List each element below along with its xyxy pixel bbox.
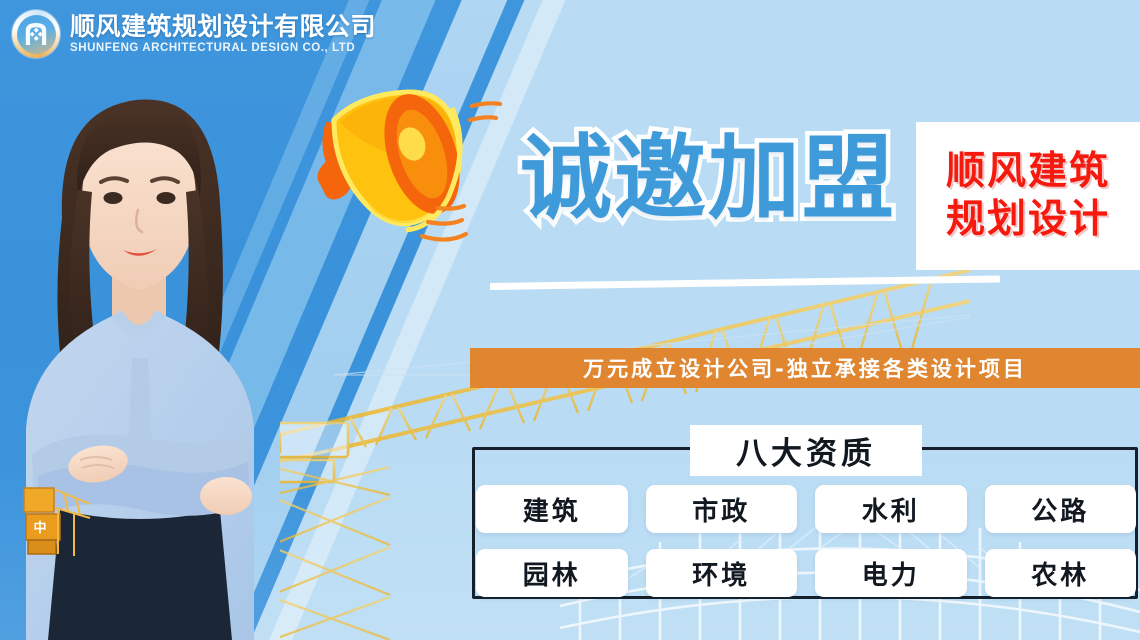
qualification-label: 环境: [692, 555, 750, 592]
brand-line-2: 规划设计: [946, 199, 1110, 241]
qualification-label: 水利: [862, 491, 920, 528]
qualification-label: 公路: [1031, 491, 1089, 528]
qualifications-grid: 建筑 市政 水利 公路 园林 环境 电力 农林: [472, 485, 1140, 597]
qualification-item-gonglu[interactable]: 公路: [985, 485, 1137, 533]
qualifications-section: 八大资质 建筑 市政 水利 公路 园林 环境 电力: [472, 425, 1140, 617]
qualification-item-huanjing[interactable]: 环境: [646, 549, 798, 597]
brand-line-1: 顺风建筑: [946, 151, 1110, 193]
qualification-item-shuili[interactable]: 水利: [815, 485, 967, 533]
company-logo[interactable]: 顺风建筑规划设计有限公司 SHUNFENG ARCHITECTURAL DESI…: [12, 10, 376, 58]
qualification-label: 园林: [523, 555, 581, 592]
qualification-item-nonglin[interactable]: 农林: [985, 549, 1137, 597]
qualification-item-jianzhu[interactable]: 建筑: [476, 485, 628, 533]
qualifications-title: 八大资质: [690, 425, 922, 476]
brand-name-box: 顺风建筑 规划设计: [916, 122, 1140, 270]
qualification-label: 建筑: [523, 491, 581, 528]
qualification-label: 农林: [1031, 555, 1089, 592]
company-name-cn: 顺风建筑规划设计有限公司: [70, 14, 376, 39]
company-name-en: SHUNFENG ARCHITECTURAL DESIGN CO., LTD: [70, 43, 376, 55]
promo-bar-text: 万元成立设计公司-独立承接各类设计项目: [583, 353, 1027, 383]
arch-diamond-logo-icon: [12, 10, 60, 58]
qualification-item-dianli[interactable]: 电力: [815, 549, 967, 597]
qualification-label: 市政: [692, 491, 750, 528]
qualification-item-yuanlin[interactable]: 园林: [476, 549, 628, 597]
promo-bar: 万元成立设计公司-独立承接各类设计项目: [470, 348, 1140, 388]
qualification-item-shizheng[interactable]: 市政: [646, 485, 798, 533]
qualifications-title-text: 八大资质: [736, 428, 876, 473]
page-title: 诚邀加盟: [520, 133, 896, 225]
promo-banner: 顺风建筑规划设计有限公司 SHUNFENG ARCHITECTURAL DESI…: [0, 0, 1140, 640]
qualification-label: 电力: [862, 555, 920, 592]
